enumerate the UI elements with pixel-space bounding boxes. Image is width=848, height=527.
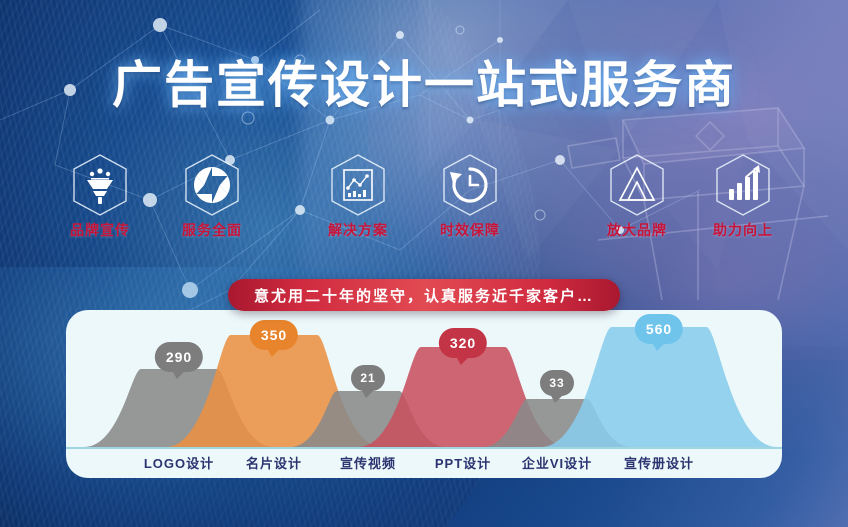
category-label: 宣传视频	[340, 453, 396, 472]
poster-canvas: 广告宣传设计一站式服务商 品牌宣传	[0, 0, 848, 527]
feature-label: 解决方案	[310, 220, 406, 240]
value-text: 290	[166, 349, 192, 365]
bar-chart-arrow-up-icon	[712, 152, 774, 218]
bubble-tail	[361, 389, 375, 398]
hex-frame	[589, 152, 685, 218]
hex-frame	[164, 152, 260, 218]
value-text: 350	[261, 327, 287, 343]
hex-frame	[52, 152, 148, 218]
feature-item-timeliness[interactable]: 时效保障	[422, 152, 518, 240]
feature-item-amplify[interactable]: 放大品牌	[589, 152, 685, 240]
feature-label: 放大品牌	[589, 220, 685, 240]
feature-icon-row: 品牌宣传 服务全面	[0, 152, 848, 252]
value-text: 560	[646, 321, 672, 337]
category-label: PPT设计	[435, 453, 491, 472]
feature-item-brand[interactable]: 品牌宣传	[52, 152, 148, 240]
category-label: 企业VI设计	[522, 453, 592, 472]
value-bubble: 320	[439, 328, 487, 358]
category-label: 宣传册设计	[624, 453, 694, 472]
feature-label: 时效保障	[422, 220, 518, 240]
hex-frame	[422, 152, 518, 218]
value-bubble: 21	[351, 365, 385, 391]
clock-rewind-icon	[439, 152, 501, 218]
value-bubble: 290	[155, 342, 203, 372]
value-bubble: 33	[540, 370, 574, 396]
feature-label: 助力向上	[695, 220, 791, 240]
bubble-tail	[652, 342, 666, 351]
feature-item-service[interactable]: 服务全面	[164, 152, 260, 240]
value-text: 320	[450, 335, 476, 351]
chart-category-labels: LOGO设计 名片设计 宣传视频 PPT设计 企业VI设计 宣传册设计	[66, 453, 782, 478]
slogan-banner: 意尤用二十年的坚守，认真服务近千家客户…	[228, 279, 620, 311]
megaphone-badge-icon	[69, 152, 131, 218]
chart-baseline	[66, 447, 782, 449]
value-text: 33	[549, 376, 564, 390]
triangle-brand-icon	[606, 152, 668, 218]
category-label: LOGO设计	[144, 453, 214, 472]
chart-card: 290 350 21 320 33 560 LOGO设计 名片设计 宣传视频	[66, 310, 782, 478]
bubble-tail	[172, 370, 186, 379]
bubble-tail	[550, 394, 564, 403]
category-label: 名片设计	[246, 453, 302, 472]
camera-aperture-icon	[181, 152, 243, 218]
page-title: 广告宣传设计一站式服务商	[0, 56, 848, 114]
value-bubble: 560	[635, 314, 683, 344]
feature-item-growth[interactable]: 助力向上	[695, 152, 791, 240]
bubble-tail	[267, 348, 281, 357]
hex-frame	[310, 152, 406, 218]
hex-frame	[695, 152, 791, 218]
chart-analytics-icon	[327, 152, 389, 218]
bubble-tail	[456, 356, 470, 365]
value-bubble: 350	[250, 320, 298, 350]
value-text: 21	[360, 371, 375, 385]
feature-label: 品牌宣传	[52, 220, 148, 240]
feature-item-solution[interactable]: 解决方案	[310, 152, 406, 240]
feature-label: 服务全面	[164, 220, 260, 240]
